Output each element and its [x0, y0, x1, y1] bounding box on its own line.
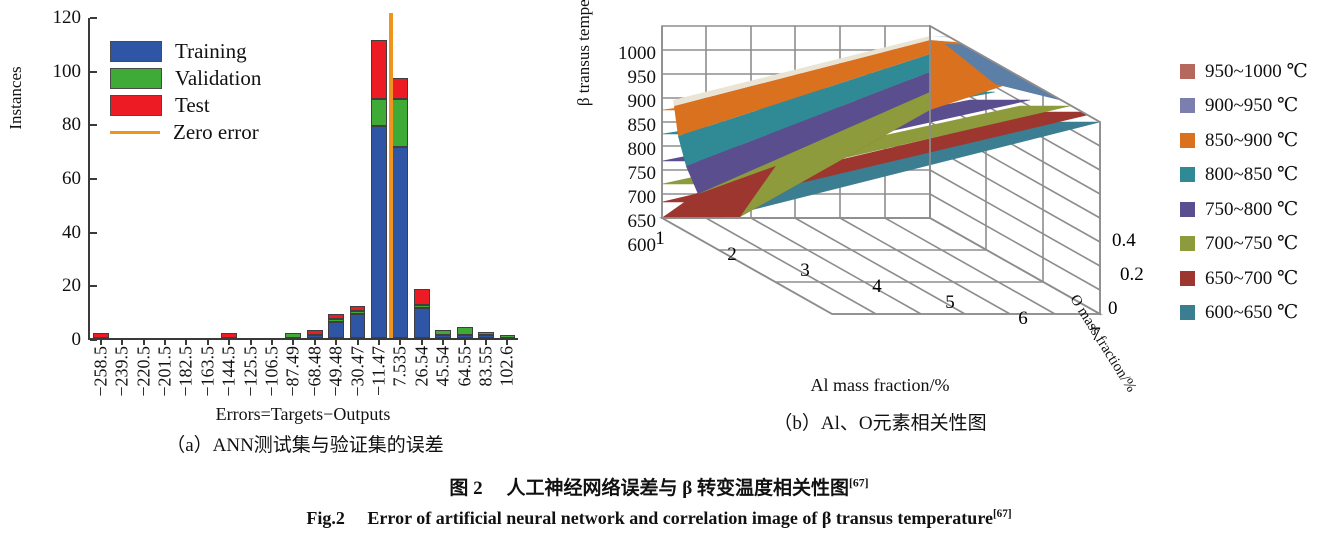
histogram-x-tick-label: −182.5 — [176, 346, 197, 397]
histogram-x-tick-label: −220.5 — [133, 346, 154, 397]
histogram-x-tick-label: 7.535 — [390, 346, 411, 387]
temperature-legend-swatch — [1180, 133, 1195, 148]
histogram-bar-segment-training — [414, 308, 430, 338]
histogram-bar-stack — [435, 330, 451, 338]
histogram-legend-item[interactable]: Training — [110, 38, 261, 65]
histogram-bar-group[interactable]: 26.54 — [411, 18, 432, 338]
histogram-bar-group[interactable]: −106.5 — [261, 18, 282, 338]
legend-color-swatch — [110, 68, 162, 89]
histogram-bar-stack — [350, 306, 366, 339]
histogram-x-tick-mark — [314, 338, 316, 345]
temperature-legend-swatch — [1180, 202, 1195, 217]
histogram-x-tick-mark — [485, 338, 487, 345]
histogram-legend-label: Training — [175, 39, 247, 64]
histogram-y-tick-label: 80 — [62, 114, 90, 136]
histogram-x-tick-mark — [164, 338, 166, 345]
figure-caption-en-text: Error of artificial neural network and c… — [367, 508, 993, 528]
figure-number-en: Fig.2 — [306, 508, 345, 528]
histogram-x-tick-mark — [143, 338, 145, 345]
surface-x-tick-label: 1 — [655, 228, 665, 249]
histogram-bar-group[interactable]: −11.47 — [368, 18, 389, 338]
temperature-legend-swatch — [1180, 236, 1195, 251]
histogram-legend-item[interactable]: Validation — [110, 65, 261, 92]
histogram-x-tick-label: −163.5 — [197, 346, 218, 397]
temperature-legend-swatch — [1180, 271, 1195, 286]
histogram-x-tick-label: −258.5 — [90, 346, 111, 397]
histogram-x-tick-label: 83.55 — [476, 346, 497, 387]
surface-floor-grid — [662, 218, 1100, 314]
figure-cn-reference: [67] — [849, 477, 869, 490]
histogram-x-tick-mark — [399, 338, 401, 345]
histogram-x-tick-mark — [421, 338, 423, 345]
histogram-bar-segment-validation — [392, 99, 408, 147]
histogram-x-tick-mark — [185, 338, 187, 345]
histogram-x-tick-mark — [207, 338, 209, 345]
histogram-legend-item[interactable]: Zero error — [110, 119, 261, 146]
histogram-bar-segment-validation — [371, 99, 387, 126]
histogram-bar-group[interactable]: 83.55 — [475, 18, 496, 338]
surface-x-tick-label: 2 — [727, 244, 737, 265]
temperature-legend-item[interactable]: 600~650 ℃ — [1180, 296, 1318, 331]
histogram-x-tick-label: 64.55 — [454, 346, 475, 387]
temperature-legend-swatch — [1180, 167, 1195, 182]
histogram-bar-group[interactable]: −258.5 — [90, 18, 111, 338]
histogram-legend-item[interactable]: Test — [110, 92, 261, 119]
histogram-bar-segment-test — [392, 78, 408, 99]
histogram-x-tick-label: 45.54 — [433, 346, 454, 387]
histogram-y-tick-label: 60 — [62, 168, 90, 190]
temperature-legend-swatch — [1180, 305, 1195, 320]
surface-x-tick-label: 5 — [945, 292, 955, 313]
temperature-legend-label: 950~1000 ℃ — [1205, 60, 1308, 83]
histogram-x-tick-mark — [121, 338, 123, 345]
histogram-bar-group[interactable]: −68.48 — [304, 18, 325, 338]
histogram-x-tick-label: −87.49 — [283, 346, 304, 397]
histogram-bar-group[interactable]: −30.47 — [347, 18, 368, 338]
temperature-legend-item[interactable]: 750~800 ℃ — [1180, 192, 1318, 227]
histogram-x-tick-mark — [442, 338, 444, 345]
histogram-x-tick-label: −68.48 — [304, 346, 325, 397]
histogram-x-tick-label: −125.5 — [240, 346, 261, 397]
histogram-x-tick-mark — [271, 338, 273, 345]
temperature-legend: 950~1000 ℃900~950 ℃850~900 ℃800~850 ℃750… — [1180, 54, 1318, 330]
surface-x-tick-labels: 1234567 — [655, 228, 1101, 345]
histogram-bar-group[interactable]: −87.49 — [283, 18, 304, 338]
histogram-y-tick-label: 40 — [62, 222, 90, 244]
histogram-bar-group[interactable]: 64.55 — [454, 18, 475, 338]
temperature-legend-item[interactable]: 850~900 ℃ — [1180, 123, 1318, 158]
panel-b-surface: β transus temperature/℃ 1000950900850800… — [560, 0, 1180, 460]
histogram-y-tick-label: 100 — [53, 61, 91, 83]
legend-line-marker — [110, 131, 160, 134]
panel-a-histogram: Instances 020406080100120 −258.5−239.5−2… — [0, 0, 560, 460]
histogram-bar-segment-test — [371, 40, 387, 99]
histogram-legend-label: Validation — [175, 66, 261, 91]
histogram-x-tick-label: −49.48 — [326, 346, 347, 397]
surface-x-axis-label: Al mass fraction/% — [710, 375, 1050, 396]
histogram-x-tick-mark — [292, 338, 294, 345]
histogram-y-tick-label: 0 — [72, 329, 91, 351]
histogram-legend: TrainingValidationTestZero error — [110, 38, 261, 146]
surface-z-tick-label: 0.2 — [1120, 264, 1144, 285]
legend-color-swatch — [110, 41, 162, 62]
figure-caption-english: Fig.2 Error of artificial neural network… — [0, 508, 1318, 529]
histogram-bar-stack — [307, 330, 323, 338]
histogram-y-tick-label: 20 — [62, 275, 90, 297]
temperature-legend-swatch — [1180, 98, 1195, 113]
surface-x-tick-label: 6 — [1018, 308, 1028, 329]
histogram-legend-label: Zero error — [173, 120, 259, 145]
histogram-y-tick-label: 120 — [53, 7, 91, 29]
temperature-legend-label: 600~650 ℃ — [1205, 301, 1298, 324]
histogram-bar-stack — [392, 78, 408, 338]
histogram-bar-segment-training — [371, 126, 387, 338]
histogram-bar-stack — [414, 289, 430, 338]
histogram-bar-group[interactable]: 102.6 — [497, 18, 518, 338]
histogram-y-axis-label: Instances — [6, 28, 26, 168]
histogram-x-axis-label: Errors=Targets−Outputs — [88, 404, 518, 425]
surface-z-tick-labels: 0.40.20 — [1108, 230, 1144, 319]
surface-z-tick-label: 0.4 — [1112, 230, 1136, 251]
histogram-x-tick-label: 26.54 — [411, 346, 432, 387]
histogram-x-tick-label: −201.5 — [154, 346, 175, 397]
histogram-x-tick-label: −30.47 — [347, 346, 368, 397]
histogram-x-tick-label: −144.5 — [219, 346, 240, 397]
temperature-legend-label: 900~950 ℃ — [1205, 94, 1298, 117]
temperature-legend-item[interactable]: 700~750 ℃ — [1180, 227, 1318, 262]
surface-x-tick-label: 3 — [800, 260, 810, 281]
histogram-bar-segment-training — [350, 314, 366, 338]
temperature-legend-label: 800~850 ℃ — [1205, 163, 1298, 186]
panel-b-subcaption: （b）Al、O元素相关性图 — [660, 408, 1100, 435]
histogram-x-tick-mark — [250, 338, 252, 345]
histogram-legend-label: Test — [175, 93, 210, 118]
histogram-x-tick-mark — [506, 338, 508, 345]
temperature-legend-item[interactable]: 650~700 ℃ — [1180, 261, 1318, 296]
histogram-bar-segment-validation — [457, 327, 473, 335]
surface-x-tick-label: 4 — [872, 276, 882, 297]
figure-caption-chinese: 图 2 人工神经网络误差与 β 转变温度相关性图[67] — [0, 473, 1318, 500]
histogram-x-tick-mark — [100, 338, 102, 345]
histogram-x-tick-mark — [378, 338, 380, 345]
temperature-legend-label: 750~800 ℃ — [1205, 198, 1298, 221]
histogram-bar-segment-training — [328, 322, 344, 338]
zero-error-line — [389, 13, 393, 338]
histogram-x-tick-label: −11.47 — [368, 346, 389, 396]
histogram-bar-stack — [328, 314, 344, 338]
histogram-x-tick-mark — [228, 338, 230, 345]
temperature-legend-label: 650~700 ℃ — [1205, 267, 1298, 290]
histogram-x-tick-label: 102.6 — [497, 346, 518, 387]
temperature-legend-swatch — [1180, 64, 1195, 79]
histogram-bar-group[interactable]: 45.54 — [433, 18, 454, 338]
histogram-x-tick-mark — [335, 338, 337, 345]
temperature-legend-item[interactable]: 950~1000 ℃ — [1180, 54, 1318, 89]
histogram-x-tick-mark — [464, 338, 466, 345]
figure-root: Instances 020406080100120 −258.5−239.5−2… — [0, 0, 1318, 542]
histogram-bar-segment-training — [392, 147, 408, 338]
figure-number-cn: 图 2 — [449, 478, 482, 499]
histogram-y-tick-mark — [90, 339, 97, 341]
histogram-x-tick-mark — [357, 338, 359, 345]
histogram-bar-segment-test — [414, 289, 430, 305]
histogram-x-tick-label: −106.5 — [261, 346, 282, 397]
surface-3d-plot: 1234567 0.40.20 — [600, 14, 1160, 374]
histogram-x-tick-label: −239.5 — [112, 346, 133, 397]
panel-a-subcaption: （a）ANN测试集与验证集的误差 — [50, 430, 560, 457]
surface-z-tick-label: 0 — [1108, 298, 1118, 319]
temperature-legend-label: 700~750 ℃ — [1205, 232, 1298, 255]
histogram-bar-stack — [371, 40, 387, 338]
temperature-legend-item[interactable]: 800~850 ℃ — [1180, 158, 1318, 193]
surface-plane-render — [663, 36, 1100, 217]
histogram-bar-stack — [457, 327, 473, 338]
temperature-legend-item[interactable]: 900~950 ℃ — [1180, 89, 1318, 124]
temperature-legend-label: 850~900 ℃ — [1205, 129, 1298, 152]
figure-caption-cn-text: 人工神经网络误差与 β 转变温度相关性图 — [506, 478, 849, 499]
figure-en-reference: [67] — [993, 508, 1012, 520]
histogram-bar-group[interactable]: −49.48 — [325, 18, 346, 338]
legend-color-swatch — [110, 95, 162, 116]
